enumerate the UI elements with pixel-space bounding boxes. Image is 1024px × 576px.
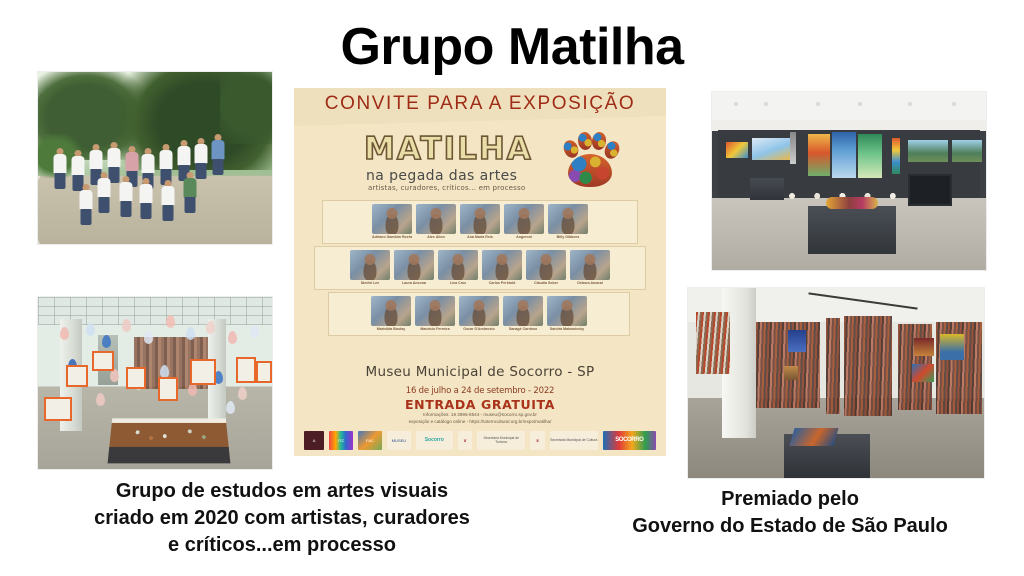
plinth	[750, 178, 784, 200]
catalog-book	[789, 428, 838, 446]
artwork-banner	[832, 132, 856, 178]
artist-portrait: Cláudia Seber	[526, 250, 566, 286]
artwork-strip	[892, 138, 900, 174]
paw-print-icon	[560, 132, 622, 190]
artist-photo	[394, 250, 434, 280]
artist-name: Sanagé Cardoso	[503, 326, 543, 332]
hanging-artwork-frame	[256, 361, 272, 383]
sponsor-logo: ♛	[530, 431, 545, 450]
artist-portrait: Sandra Makowiecky	[547, 296, 587, 332]
hanging-drop	[226, 401, 235, 414]
artwork-panel	[726, 142, 748, 158]
artist-portrait: Oscar D'Ambrosio	[459, 296, 499, 332]
artist-portrait: Adriano Gambim Rocha	[372, 204, 412, 240]
ceiling-spotlight	[734, 102, 738, 106]
artwork-portrait	[940, 334, 964, 360]
artwork-panel	[912, 364, 934, 382]
artist-name: Billy Gibbees	[548, 234, 588, 240]
artwork-panel	[752, 138, 790, 160]
artist-portrait: Débora Amaral	[570, 250, 610, 286]
caption-left: Grupo de estudos em artes visuais criado…	[22, 478, 542, 559]
artist-name: Sandra Makowiecky	[547, 326, 587, 332]
artist-photo	[548, 204, 588, 234]
hanging-artwork-frame	[92, 351, 114, 371]
hanging-artwork-frame	[236, 357, 256, 383]
hanging-drop	[86, 323, 95, 336]
sponsor-logo: A	[304, 431, 324, 450]
poster-catalog-line[interactable]: exposição e catálogo online - https://to…	[294, 419, 666, 424]
artist-name: Adriano Gambim Rocha	[372, 234, 412, 240]
artist-row: Marivilda Boulay Mauricio Ferreira Oscar…	[328, 292, 630, 336]
artist-row: Adriano Gambim Rocha Alex Álion Ana Mari…	[322, 200, 638, 244]
exhibition-poster: CONVITE PARA A EXPOSIÇÃO MATILHA na pega…	[294, 88, 666, 456]
artist-portrait: Lica Cruz	[438, 250, 478, 286]
sponsor-logo: Secretaria Municipal de Turismo	[477, 431, 525, 450]
artist-photo	[415, 296, 455, 326]
ceiling-spotlight	[908, 102, 912, 106]
sponsor-logo: SOCORRO	[603, 431, 656, 450]
hanging-artwork-frame	[44, 397, 72, 421]
hanging-drop	[228, 331, 237, 344]
artwork-panel	[914, 338, 934, 356]
artist-name: Angeroni	[504, 234, 544, 240]
fabric-strip-installation	[844, 316, 892, 416]
artwork-strip	[790, 132, 796, 164]
artist-photo	[460, 204, 500, 234]
artist-photo	[504, 204, 544, 234]
poster-headline: CONVITE PARA A EXPOSIÇÃO	[294, 93, 666, 115]
sponsor-logo-strip: A ITC FAC MUSEU Socorro ♛ Secretaria Mun…	[304, 428, 656, 452]
artist-photo	[482, 250, 522, 280]
artist-name: Dimitri Lee	[350, 280, 390, 286]
ceiling-spotlight	[858, 102, 862, 106]
artist-photo	[547, 296, 587, 326]
sponsor-logo: Secretaria Municipal de Cultura	[550, 431, 598, 450]
sponsor-logo: Socorro	[416, 431, 453, 450]
poster-subtagline: artistas, curadores, críticos... em proc…	[368, 184, 525, 192]
artist-row: Dimitri Lee Laura Ancona Lica Cruz Carlo…	[314, 246, 646, 290]
hanging-drop	[238, 387, 247, 400]
artist-photo	[503, 296, 543, 326]
artist-name: Mauricio Ferreira	[415, 326, 455, 332]
artist-name: Lica Cruz	[438, 280, 478, 286]
artist-name: Cláudia Seber	[526, 280, 566, 286]
artist-photo	[371, 296, 411, 326]
artist-portrait: Ana Maria Reis	[460, 204, 500, 240]
hanging-drop	[250, 325, 259, 338]
artist-portrait: Mauricio Ferreira	[415, 296, 455, 332]
photo-gallery-dark-wall	[712, 92, 986, 270]
artist-photo	[526, 250, 566, 280]
artist-photo	[459, 296, 499, 326]
artist-name: Débora Amaral	[570, 280, 610, 286]
poster-venue: Museu Municipal de Socorro - SP	[294, 364, 666, 380]
hanging-textile	[696, 312, 730, 374]
artist-name: Ana Maria Reis	[460, 234, 500, 240]
sponsor-logo: FAC	[358, 431, 382, 450]
hanging-drop	[122, 319, 131, 332]
artist-portrait: Billy Gibbees	[548, 204, 588, 240]
artwork-banner	[808, 134, 830, 176]
ceiling-spotlight	[764, 102, 768, 106]
artist-photo	[350, 250, 390, 280]
artwork-banner	[858, 134, 882, 178]
hanging-drop	[60, 327, 69, 340]
matilha-wordmark: MATILHA	[364, 134, 533, 165]
hanging-drop	[206, 321, 215, 334]
artist-name: Oscar D'Ambrosio	[459, 326, 499, 332]
ceiling-spotlight	[952, 102, 956, 106]
photo-gallery-hanging-frames	[38, 297, 272, 469]
artist-photo	[416, 204, 456, 234]
poster-info-line: Informações: 19 3895-8544 - museu@socorr…	[294, 412, 666, 417]
artist-portrait: Dimitri Lee	[350, 250, 390, 286]
artwork-panel	[952, 140, 982, 162]
artist-photo	[570, 250, 610, 280]
fabric-strip-installation	[826, 318, 840, 414]
artist-name: Laura Ancona	[394, 280, 434, 286]
caption-right: Premiado pelo Governo do Estado de São P…	[560, 486, 1020, 540]
hanging-artwork-frame	[66, 365, 88, 387]
hanging-drop	[96, 393, 105, 406]
plinth	[808, 206, 896, 254]
sponsor-logo: MUSEU	[387, 431, 411, 450]
hanging-drop	[186, 327, 195, 340]
artist-portrait: Alex Álion	[416, 204, 456, 240]
artist-name: Alex Álion	[416, 234, 456, 240]
sand-installation	[108, 418, 231, 463]
poster-logo-row: MATILHA na pegada das artes artistas, cu…	[312, 132, 648, 194]
poster-free-entry: ENTRADA GRATUITA	[294, 397, 666, 412]
artist-portrait: Marivilda Boulay	[371, 296, 411, 332]
sponsor-logo: ♛	[458, 431, 473, 450]
artwork-panel	[784, 366, 798, 380]
caption-left-line: criado em 2020 com artistas, curadores	[22, 505, 542, 532]
monitor	[908, 174, 952, 206]
artist-photo	[438, 250, 478, 280]
artwork-panel	[788, 330, 806, 352]
hanging-artwork-frame	[190, 359, 216, 385]
artist-portrait: Laura Ancona	[394, 250, 434, 286]
artist-portrait: Sanagé Cardoso	[503, 296, 543, 332]
caption-right-line: Premiado pelo	[560, 486, 1020, 513]
hanging-drop	[144, 331, 153, 344]
artwork-panel	[908, 140, 948, 162]
hanging-drop	[166, 315, 175, 328]
hanging-drop	[102, 335, 111, 348]
poster-dates: 16 de julho a 24 de setembro - 2022	[294, 386, 666, 396]
artist-name: Marivilda Boulay	[371, 326, 411, 332]
poster-tagline: na pegada das artes	[366, 168, 517, 184]
artist-portrait: Angeroni	[504, 204, 544, 240]
caption-left-line: Grupo de estudos em artes visuais	[22, 478, 542, 505]
caption-left-line: e críticos...em processo	[22, 532, 542, 559]
photo-gallery-fabric-strips	[688, 288, 984, 478]
ceiling-spotlight	[816, 102, 820, 106]
caption-right-line: Governo do Estado de São Paulo	[560, 513, 1020, 540]
hanging-artwork-frame	[158, 377, 178, 401]
sponsor-logo: ITC	[329, 431, 353, 450]
hanging-artwork-frame	[126, 367, 146, 389]
tree-right	[220, 72, 272, 144]
artist-name: Carlos Perktold	[482, 280, 522, 286]
artist-photo	[372, 204, 412, 234]
artist-portrait: Carlos Perktold	[482, 250, 522, 286]
page-title: Grupo Matilha	[0, 20, 1024, 75]
photo-group-members	[38, 72, 272, 244]
